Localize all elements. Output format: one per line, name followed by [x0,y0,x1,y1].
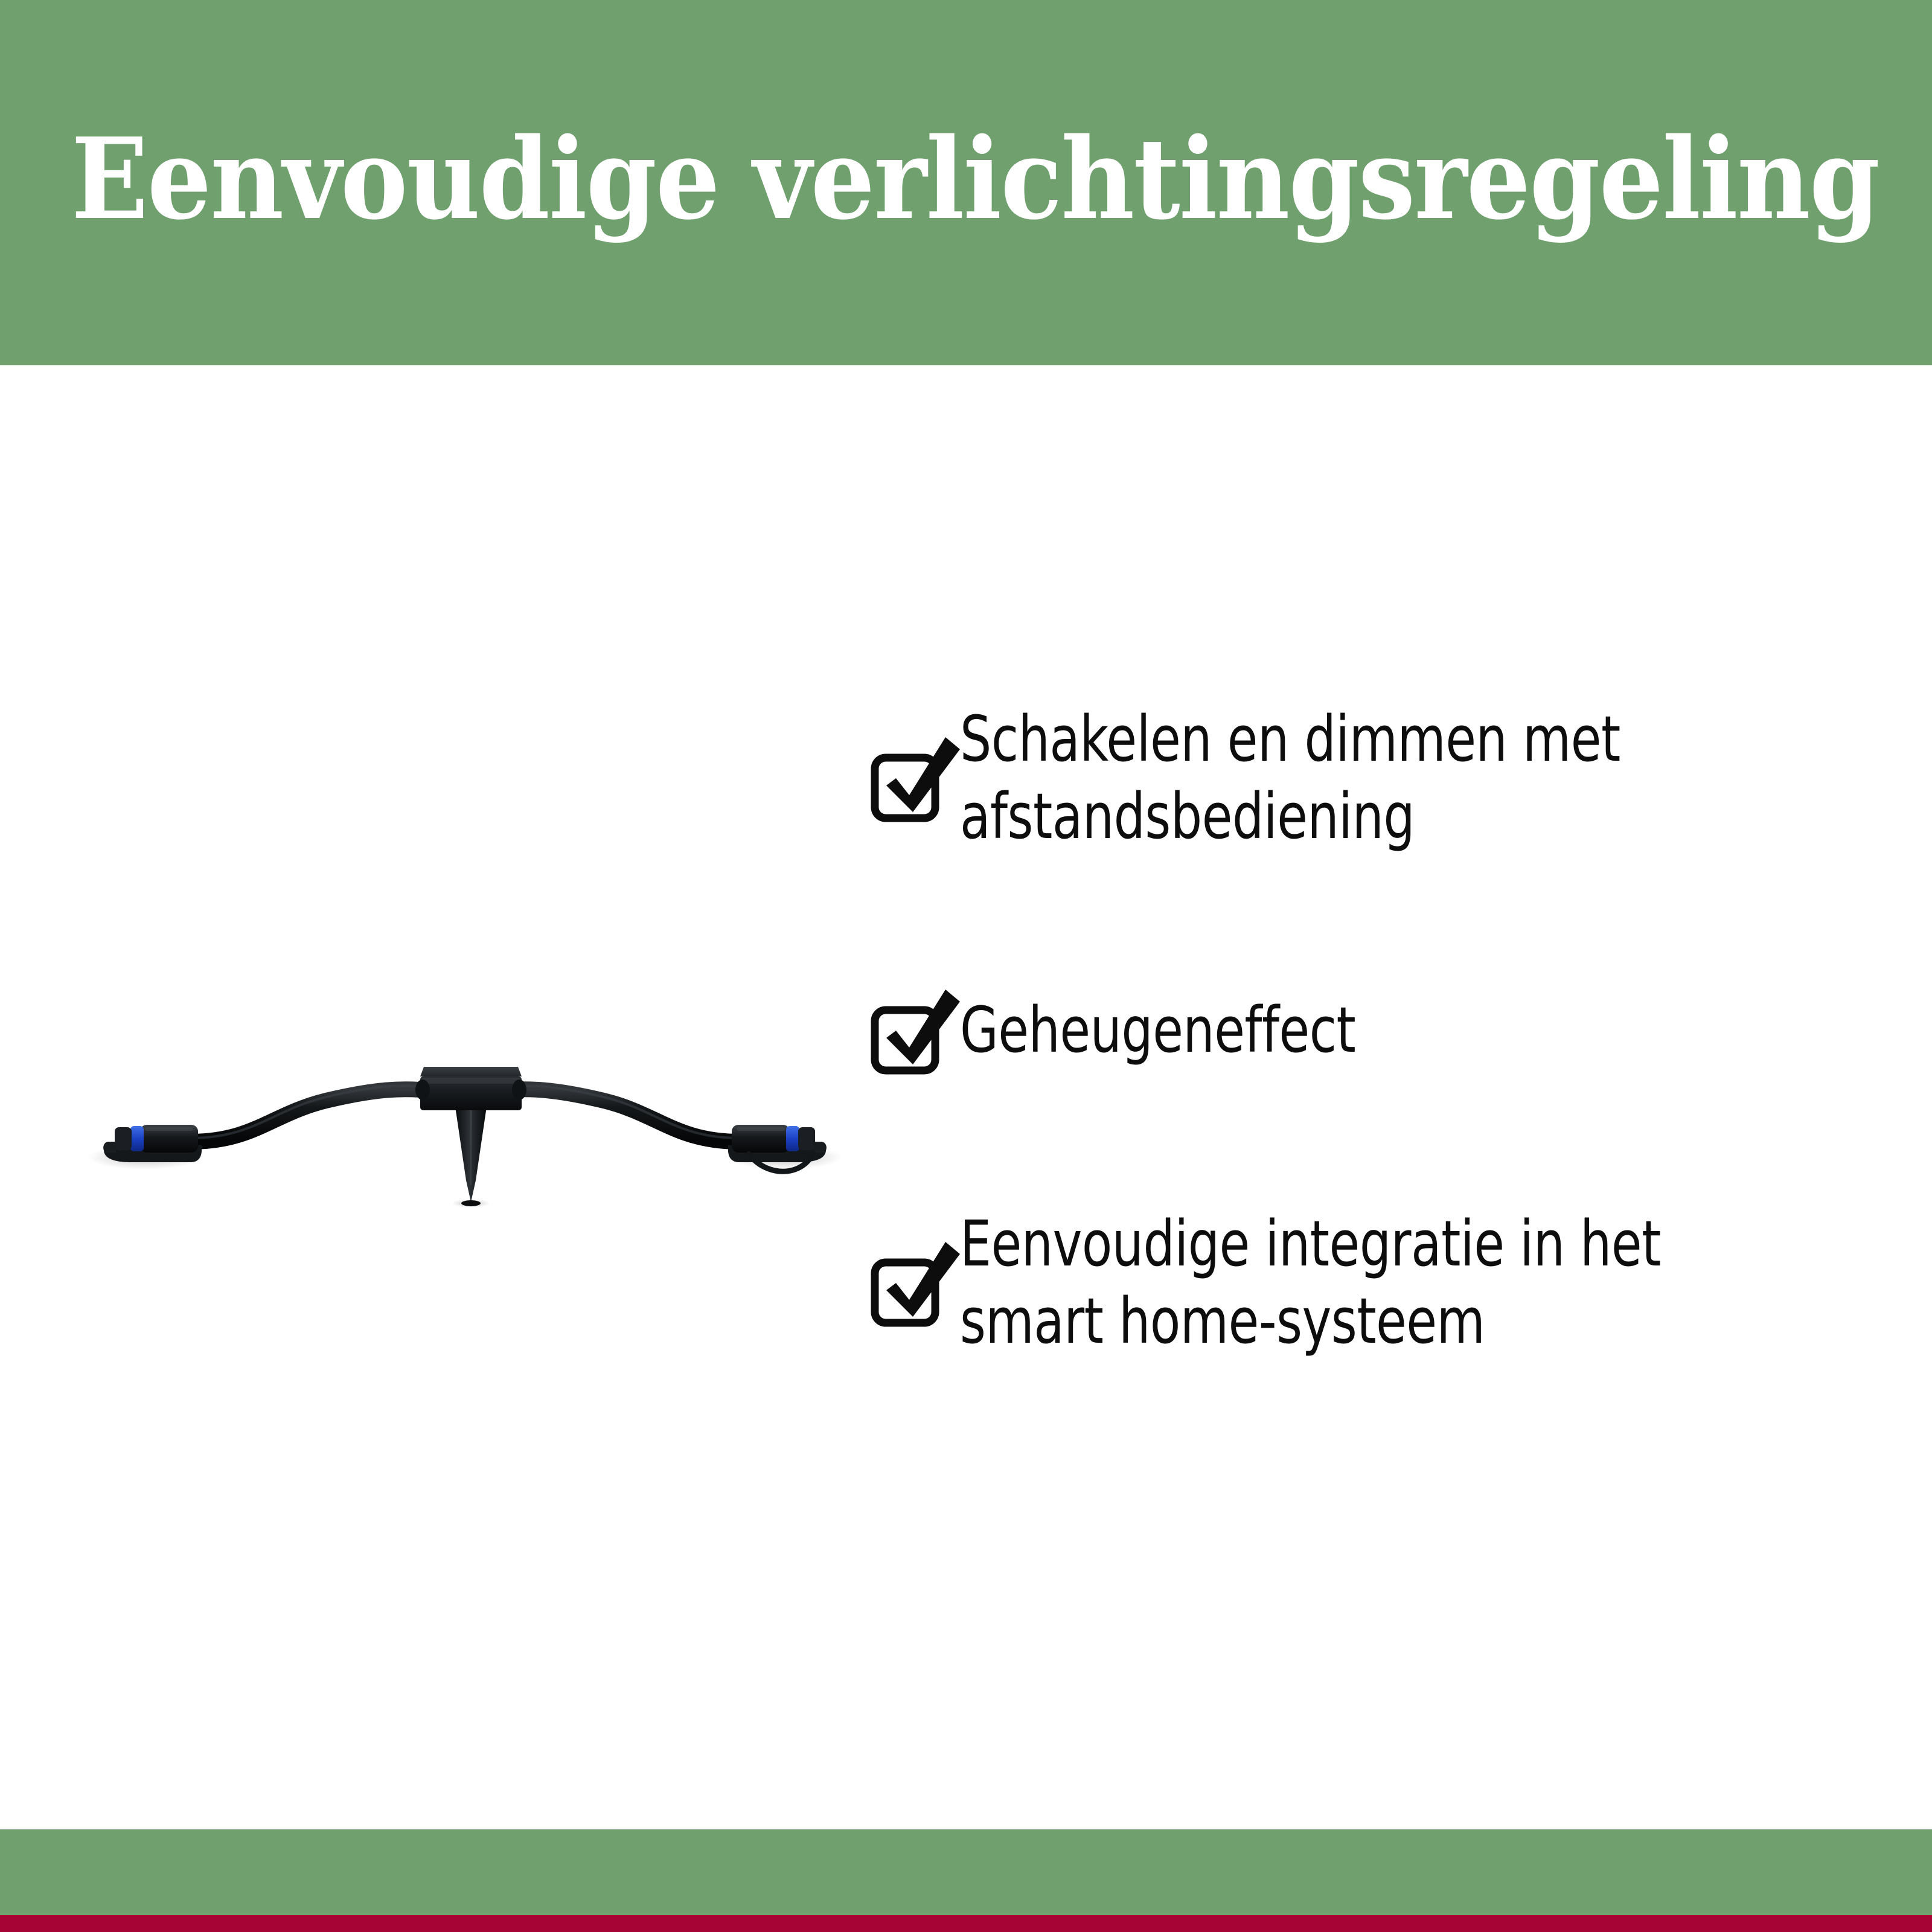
feature-label: Eenvoudige integratie in het smart home-… [960,1205,1730,1360]
checkbox-checked-icon [869,1237,966,1328]
checkbox-checked-icon [869,985,966,1075]
footer-green-band [0,1829,1932,1915]
feature-item: Geheugeneffect [869,976,1835,1084]
spike-tip [461,1200,481,1206]
feature-label: Schakelen en dimmen met afstandsbedienin… [960,700,1730,855]
left-connector [103,1125,202,1162]
feature-label: Geheugeneffect [960,991,1730,1069]
main-content-area: Schakelen en dimmen met afstandsbedienin… [0,365,1932,1829]
grommet-left [415,1080,430,1100]
feature-list: Schakelen en dimmen met afstandsbedienin… [869,700,1835,1360]
footer-red-band [0,1915,1932,1932]
feature-item: Schakelen en dimmen met afstandsbedienin… [869,700,1835,855]
junction-box-top [420,1067,522,1076]
feature-item: Eenvoudige integratie in het smart home-… [869,1205,1835,1360]
grommet-right [512,1080,526,1100]
checkbox-checked-icon [869,732,966,823]
page-title: Eenvoudige verlichtingsregeling [71,118,1879,239]
header-band: Eenvoudige verlichtingsregeling [0,0,1932,365]
product-image [72,1029,857,1235]
